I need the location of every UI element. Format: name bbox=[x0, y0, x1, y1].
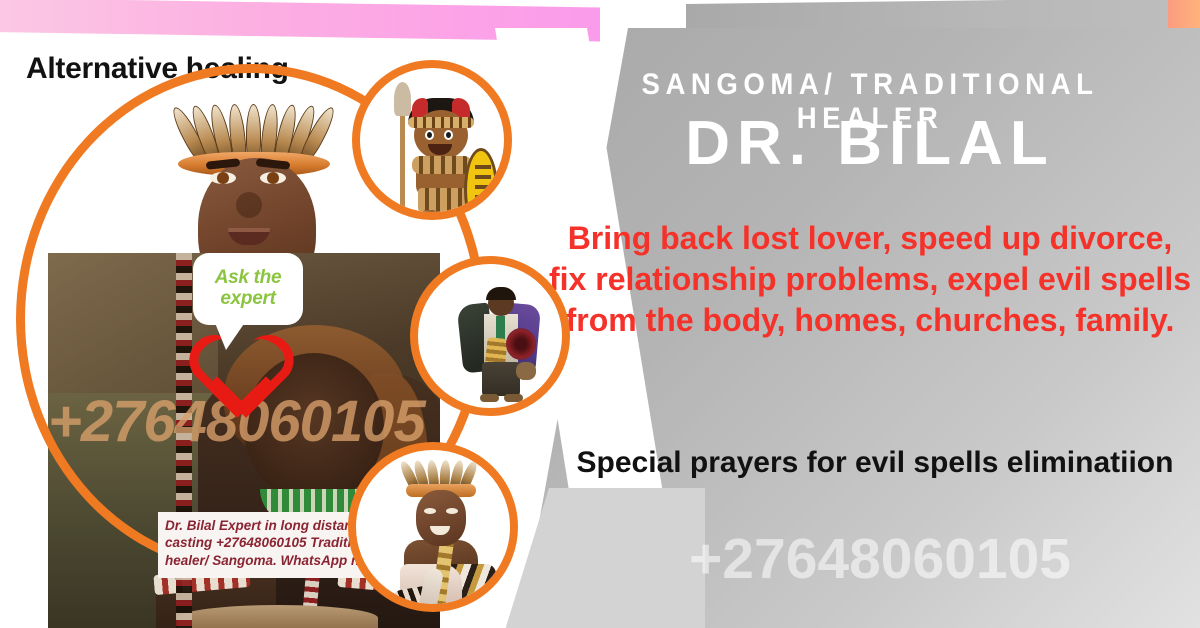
warrior-eye-left bbox=[425, 130, 434, 140]
circle-zulu-warrior bbox=[352, 60, 512, 220]
fur-skirt bbox=[418, 188, 466, 212]
diviner-hair bbox=[486, 287, 516, 300]
healer-eye-right bbox=[446, 508, 458, 514]
round-shield-icon bbox=[506, 328, 536, 360]
headband bbox=[408, 117, 474, 128]
fur-chest bbox=[412, 156, 472, 174]
circle-cloaked-diviner bbox=[410, 256, 570, 416]
healer-name: DR. BILAL bbox=[560, 108, 1180, 179]
services-text: Bring back lost lover, speed up divorce,… bbox=[545, 218, 1195, 341]
shoe-left bbox=[480, 394, 499, 402]
shield-icon bbox=[464, 148, 498, 220]
spear-tip bbox=[394, 82, 411, 116]
top-orange-bar bbox=[1168, 0, 1200, 32]
speech-bubble-text: Ask the expert bbox=[193, 268, 303, 309]
foreground-object bbox=[178, 605, 378, 628]
diviner-pants bbox=[482, 362, 520, 396]
speech-bubble: Ask the expert bbox=[193, 253, 303, 325]
circle-crouching-healer bbox=[348, 442, 518, 612]
contact-phone-number: +27648060105 bbox=[560, 526, 1200, 592]
special-offer-text: Special prayers for evil spells eliminat… bbox=[560, 444, 1190, 482]
healer-eye-left bbox=[424, 508, 436, 514]
crouching-figure bbox=[378, 460, 498, 606]
carry-bag bbox=[516, 362, 536, 380]
diviner-figure bbox=[460, 290, 536, 402]
healer-face bbox=[416, 490, 466, 546]
warrior-eye-right bbox=[444, 130, 453, 140]
poster-canvas: Alternative healing bbox=[0, 0, 1200, 628]
shoe-right bbox=[504, 394, 523, 402]
